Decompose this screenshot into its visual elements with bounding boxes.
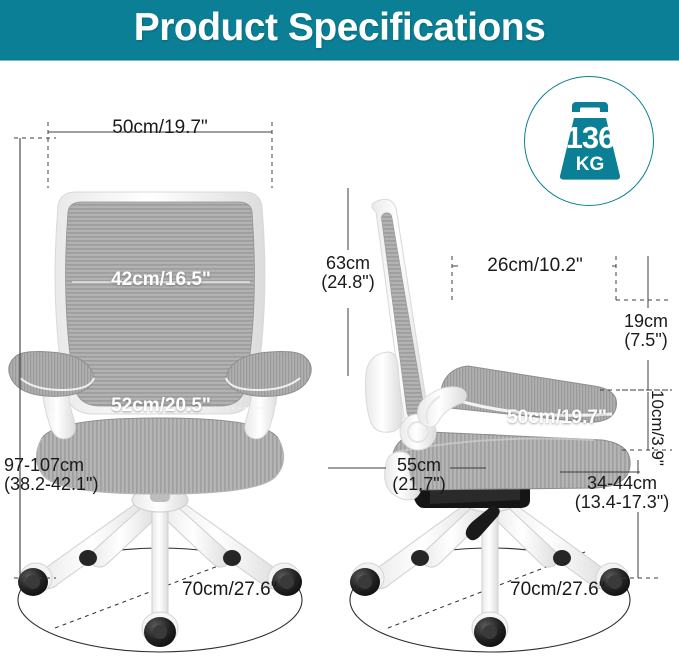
dim-overall-height-line2: (38.2-42.1") — [4, 475, 98, 494]
page-title: Product Specifications — [0, 0, 679, 56]
dim-base-depth-line1: 55cm — [382, 456, 456, 475]
dim-seat-height: 34-44cm (13.4-17.3") — [566, 474, 678, 513]
badge-unit: KG — [524, 154, 656, 176]
dim-backrest-inner-width: 42cm/16.5" — [98, 270, 224, 290]
dim-overall-height-line1: 97-107cm — [4, 456, 98, 475]
dim-backrest-height-line1: 63cm — [316, 254, 380, 273]
header-banner: Product Specifications — [0, 0, 679, 60]
dim-seat-depth: 50cm/19.7" — [490, 408, 624, 428]
weight-capacity-badge: 136 KG — [524, 76, 656, 208]
dim-armrest-height: 19cm (7.5") — [614, 312, 678, 351]
dim-backrest-outer-width: 50cm/19.7" — [98, 118, 222, 138]
specification-diagram: 50cm/19.7" 42cm/16.5" 52cm/20.5" 97-107c… — [0, 60, 679, 656]
dim-backrest-height-line2: (24.8") — [316, 273, 380, 292]
dim-seat-height-line2: (13.4-17.3") — [566, 493, 678, 512]
dim-base-depth-line2: (21.7") — [382, 475, 456, 494]
dim-seat-thickness: 10cm/3.9" — [648, 390, 666, 466]
badge-value: 136 — [524, 120, 656, 156]
dim-seat-height-line1: 34-44cm — [566, 474, 678, 493]
dim-seat-width: 52cm/20.5" — [96, 396, 226, 416]
dim-armrest-height-line1: 19cm — [614, 312, 678, 331]
dim-front-base-diameter: 70cm/27.6" — [182, 580, 277, 600]
dim-armrest-height-line2: (7.5") — [614, 331, 678, 350]
dim-side-base-diameter: 70cm/27.6" — [510, 580, 605, 600]
dim-overall-height: 97-107cm (38.2-42.1") — [4, 456, 98, 495]
dim-base-depth: 55cm (21.7") — [382, 456, 456, 495]
dim-armrest-length: 26cm/10.2" — [458, 256, 612, 276]
dim-backrest-height: 63cm (24.8") — [316, 254, 380, 293]
